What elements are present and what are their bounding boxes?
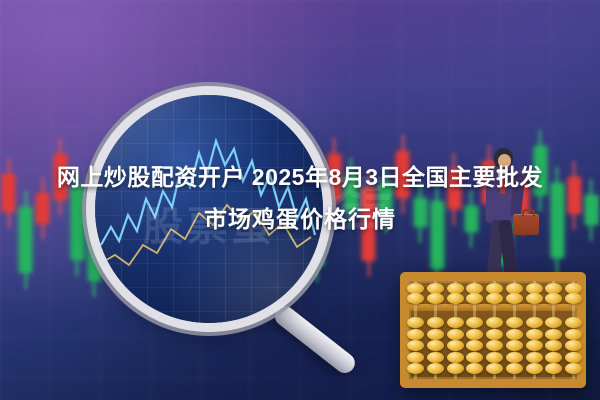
abacus-bead (427, 352, 444, 363)
abacus-bead (526, 363, 543, 374)
abacus-illustration (400, 272, 586, 388)
abacus-bead (427, 363, 444, 374)
abacus-bead (427, 317, 444, 328)
abacus-bead (565, 340, 582, 351)
abacus-bead (447, 329, 464, 340)
abacus-bead (486, 363, 503, 374)
abacus-bead (427, 329, 444, 340)
abacus-bead (407, 352, 424, 363)
headline-line-2: 市场鸡蛋价格行情 (14, 198, 586, 240)
abacus-bead (447, 363, 464, 374)
abacus-bead (506, 352, 523, 363)
abacus-bead (526, 329, 543, 340)
abacus-bead (545, 352, 562, 363)
headline: 网上炒股配资开户 2025年8月3日全国主要批发 市场鸡蛋价格行情 (0, 156, 600, 240)
abacus-bead (447, 352, 464, 363)
abacus-bead (486, 317, 503, 328)
abacus-bead (506, 317, 523, 328)
news-banner: 股票蛋 股票蛋 网上炒股配资开户 2025年8月3日全国主要批发 市场 (0, 0, 600, 400)
abacus-bead (427, 340, 444, 351)
abacus-bead (407, 340, 424, 351)
abacus-bead (447, 293, 464, 304)
abacus-bead (486, 293, 503, 304)
abacus-bead (565, 293, 582, 304)
abacus-bead (486, 352, 503, 363)
abacus-bead (565, 352, 582, 363)
abacus-bead (526, 317, 543, 328)
abacus-bead (506, 293, 523, 304)
abacus-bead (407, 329, 424, 340)
abacus-bead (407, 317, 424, 328)
abacus-bead (506, 329, 523, 340)
abacus-bead (526, 352, 543, 363)
abacus-bead (506, 340, 523, 351)
abacus-bead (486, 340, 503, 351)
abacus-bead (466, 329, 483, 340)
abacus-bead (506, 363, 523, 374)
abacus-bead (526, 340, 543, 351)
abacus-bead (447, 340, 464, 351)
abacus-bead (466, 352, 483, 363)
headline-line-1: 网上炒股配资开户 2025年8月3日全国主要批发 (14, 156, 586, 198)
abacus-bead (447, 317, 464, 328)
abacus-bead (565, 317, 582, 328)
abacus-bead (565, 329, 582, 340)
abacus-bead (486, 329, 503, 340)
abacus-bead (427, 293, 444, 304)
abacus-bead (407, 293, 424, 304)
abacus-bead (526, 293, 543, 304)
abacus-bead (565, 363, 582, 374)
abacus-bead (545, 329, 562, 340)
abacus-bead (407, 363, 424, 374)
